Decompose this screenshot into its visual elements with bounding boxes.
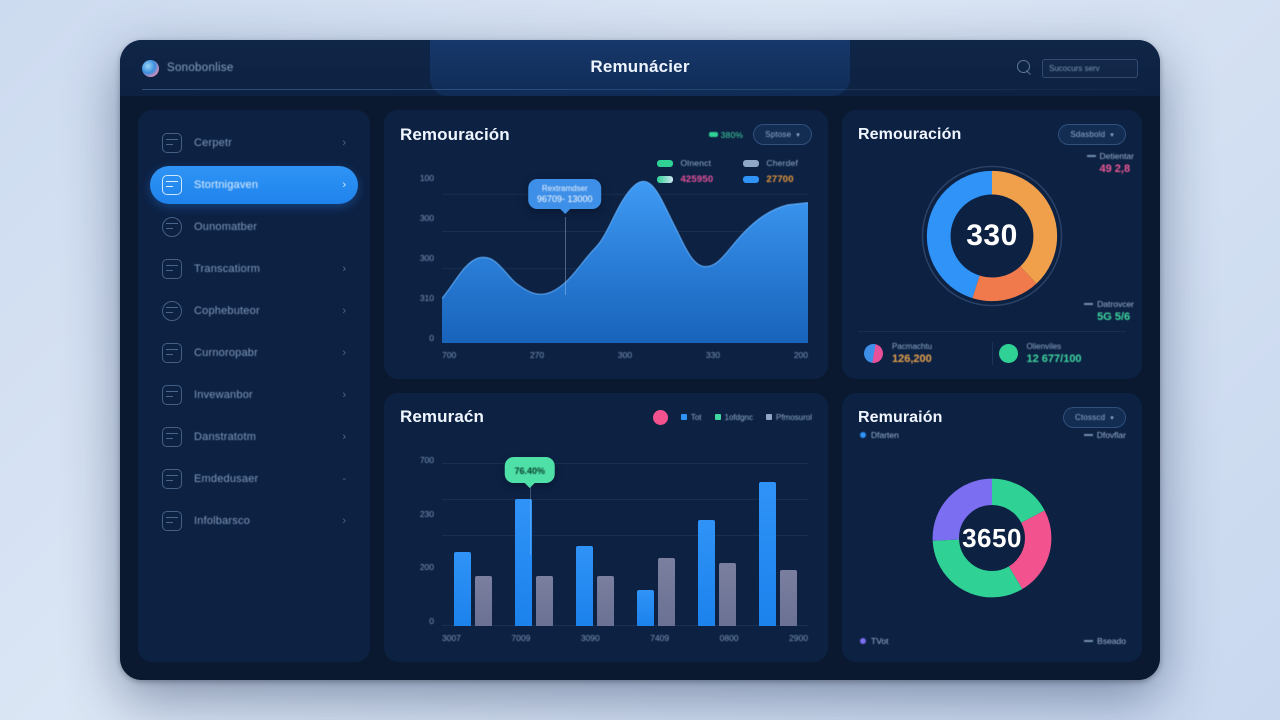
- legend-label: Olnenct: [680, 158, 711, 168]
- chevron-right-icon: ›: [342, 347, 346, 359]
- legend-label: Tot: [691, 413, 702, 422]
- x-tick: 3090: [581, 633, 600, 643]
- area-card-header: Remouración 380% Sptose ▾: [400, 124, 812, 145]
- bar-legend: Tot 1ofdgnc Pfmosurol: [653, 410, 812, 425]
- notes-icon: [162, 511, 182, 531]
- x-tick: 0800: [720, 633, 739, 643]
- bar-gray[interactable]: [719, 563, 736, 626]
- callout-label: Dfovflar: [1084, 430, 1126, 440]
- donut-top-actions: Sdasbold ▾: [1058, 124, 1126, 145]
- sidebar-item-3[interactable]: Transcatiorm ›: [150, 250, 358, 288]
- chart-icon: [162, 427, 182, 447]
- donut-bottom-center-value: 3650: [926, 472, 1058, 604]
- sidebar: Cerpetr › Stortnigaven › Ounomatber Tran…: [138, 110, 370, 662]
- sidebar-item-1[interactable]: Stortnigaven ›: [150, 166, 358, 204]
- sidebar-item-label: Transcatiorm: [194, 263, 330, 275]
- area-y-axis: 100 300 300 310 0: [400, 173, 434, 343]
- x-tick: 300: [618, 350, 632, 360]
- bar-card-title: Remuraćn: [400, 407, 484, 427]
- callout-label: Datrovcer: [1084, 299, 1134, 309]
- y-tick: 100: [420, 173, 434, 183]
- chevron-right-icon: ›: [342, 137, 346, 149]
- app-window: Sonobonlise Remunácier Sucocurs serv Cer…: [120, 40, 1160, 680]
- chevron-right-icon: ›: [342, 263, 346, 275]
- sidebar-item-2[interactable]: Ounomatber: [150, 208, 358, 246]
- dashboard-icon: [162, 133, 182, 153]
- area-chart-plot-area: 100 300 300 310 0: [400, 173, 812, 365]
- bar-gray[interactable]: [597, 576, 614, 626]
- x-tick: 270: [530, 350, 544, 360]
- blue-dot-icon: [860, 432, 866, 438]
- sidebar-item-4[interactable]: Cophebuteor ›: [150, 292, 358, 330]
- callout-label-wrap: Dfarten: [860, 430, 899, 440]
- status-badge: 380%: [709, 130, 744, 140]
- donut-bottom-callout-0: Dfarten: [860, 430, 899, 440]
- y-tick: 230: [420, 509, 434, 519]
- briefcase-icon: [162, 469, 182, 489]
- tooltip-text: 76.40%: [515, 466, 546, 476]
- chevron-right-icon: ›: [342, 179, 346, 191]
- bar-blue[interactable]: [637, 590, 654, 626]
- bar-legend-item-0: Tot: [681, 413, 702, 422]
- legend-swatch: [681, 414, 687, 420]
- tooltip-stem: [565, 217, 566, 295]
- x-tick: 3007: [442, 633, 461, 643]
- chevron-right-icon: ›: [342, 431, 346, 443]
- donut-top: 330: [918, 162, 1066, 310]
- stat-0: Pacmachtu 126,200: [858, 342, 992, 365]
- app-body: Cerpetr › Stortnigaven › Ounomatber Tran…: [120, 96, 1160, 680]
- sidebar-item-label: Infolbarsco: [194, 515, 330, 527]
- bar-series: [442, 455, 808, 626]
- legend-swatch: [657, 160, 673, 167]
- donut-bottom-card: Remuraión Ctosscd ▾: [842, 393, 1142, 662]
- x-tick: 700: [442, 350, 456, 360]
- bar-blue[interactable]: [759, 482, 776, 626]
- lock-icon: [162, 301, 182, 321]
- donut-top-callout-0: Detientar 49 2,8: [1087, 151, 1135, 175]
- green-dot-icon: [999, 344, 1018, 363]
- area-card-actions: 380% Sptose ▾: [709, 124, 812, 145]
- stat-label: Pacmachtu: [892, 342, 932, 351]
- donut-top-card: Remouración Sdasbold ▾: [842, 110, 1142, 379]
- y-tick: 0: [429, 616, 434, 626]
- bar-card-header: Remuraćn Tot 1ofdgnc Pfm: [400, 407, 812, 427]
- tooltip-line-1: Rextramdser: [537, 184, 593, 193]
- donut-bottom-chart: 3650 Dfarten Dfovflar: [858, 428, 1126, 648]
- donut-top-center-value: 330: [918, 162, 1066, 310]
- callout-value: 5G 5/6: [1084, 311, 1134, 323]
- bar-gray[interactable]: [475, 576, 492, 626]
- search-icon[interactable]: [1017, 60, 1033, 76]
- purple-dot-icon: [860, 638, 866, 644]
- donut-top-chart: 330 Detientar 49 2,8 Datrovcer 5G 5/6: [858, 145, 1126, 327]
- app-logo-icon: [142, 60, 159, 77]
- callout-label: Detientar: [1087, 151, 1135, 161]
- bar-gray[interactable]: [780, 570, 797, 626]
- donut-bottom-callout-1: Dfovflar: [1084, 430, 1126, 440]
- sidebar-item-5[interactable]: Curnoropabr ›: [150, 334, 358, 372]
- donut-top-dropdown[interactable]: Sdasbold ▾: [1058, 124, 1126, 145]
- chevron-right-icon: ›: [342, 389, 346, 401]
- sidebar-item-label: Stortnigaven: [194, 179, 330, 191]
- x-tick: 7009: [511, 633, 530, 643]
- legend-swatch: [766, 414, 772, 420]
- donut-top-stats: Pacmachtu 126,200 Olienviles 12 677/100: [858, 331, 1126, 365]
- bar-gray[interactable]: [536, 576, 553, 626]
- bar-group-3: [637, 455, 675, 626]
- area-tooltip: Rextramdser 96709- 13000: [528, 179, 602, 209]
- circle-icon: [162, 217, 182, 237]
- x-tick: 7409: [650, 633, 669, 643]
- callout-label: TVot: [871, 636, 888, 646]
- chevron-down-icon: ▾: [1110, 414, 1114, 422]
- legend-label: Pfmosurol: [776, 413, 812, 422]
- area-chart-card: Remouración 380% Sptose ▾ Olnenct: [384, 110, 828, 379]
- donut-bottom-actions: Ctosscd ▾: [1063, 407, 1126, 428]
- stat-label: Olienviles: [1027, 342, 1082, 351]
- y-tick: 300: [420, 213, 434, 223]
- legend-label: Cherdef: [766, 158, 798, 168]
- y-tick: 300: [420, 253, 434, 263]
- bar-blue[interactable]: [698, 520, 715, 626]
- stat-value: 12 677/100: [1027, 353, 1082, 365]
- home-icon: [162, 259, 182, 279]
- brand-name: Sonobonlise: [167, 62, 234, 74]
- callout-label-wrap: TVot: [860, 636, 888, 646]
- legend-label: 1ofdgnc: [725, 413, 753, 422]
- sidebar-item-label: Danstratotm: [194, 431, 330, 443]
- pink-dot-icon: [653, 410, 668, 425]
- chevron-right-icon: ›: [342, 515, 346, 527]
- donut-bottom-callout-3: Bseado: [1084, 636, 1126, 646]
- sidebar-item-label: Ounomatber: [194, 221, 334, 233]
- bar-legend-item-2: Pfmosurol: [766, 413, 812, 422]
- y-tick: 700: [420, 455, 434, 465]
- search-placeholder: Sucocurs serv: [1049, 64, 1100, 73]
- bar-chart-card: Remuraćn Tot 1ofdgnc Pfm: [384, 393, 828, 662]
- dropdown-label: Sptose: [765, 130, 791, 139]
- sidebar-item-label: Cerpetr: [194, 137, 330, 149]
- sidebar-item-6[interactable]: Invewanbor ›: [150, 376, 358, 414]
- x-tick: 330: [706, 350, 720, 360]
- x-tick: 200: [794, 350, 808, 360]
- area-range-dropdown[interactable]: Sptose ▾: [753, 124, 812, 145]
- bar-blue[interactable]: [454, 552, 471, 626]
- legend-swatch: [715, 414, 721, 420]
- y-tick: 200: [420, 562, 434, 572]
- bar-y-axis: 700 230 200 0: [400, 455, 434, 626]
- search-input[interactable]: Sucocurs serv: [1042, 59, 1138, 78]
- app-header: Sonobonlise Remunácier Sucocurs serv: [120, 40, 1160, 96]
- donut-bottom: 3650: [926, 472, 1058, 604]
- legend-item-1: Cherdef: [743, 158, 798, 168]
- bar-group-5: [759, 455, 797, 626]
- sidebar-item-0[interactable]: Cerpetr ›: [150, 124, 358, 162]
- donut-bottom-title: Remuraión: [858, 409, 942, 427]
- donut-top-callout-1: Datrovcer 5G 5/6: [1084, 299, 1134, 323]
- chevron-down-icon: ▾: [796, 131, 800, 139]
- sidebar-item-label: Emdedusaer: [194, 473, 330, 485]
- area-chart-svg: [442, 173, 808, 343]
- sidebar-item-label: Invewanbor: [194, 389, 330, 401]
- page-title: Remunácier: [590, 57, 689, 77]
- area-x-axis: 700 270 300 330 200: [442, 345, 808, 365]
- bar-tooltip-stem: [530, 483, 531, 555]
- y-tick: 310: [420, 293, 434, 303]
- donut-top-header: Remouración Sdasbold ▾: [858, 124, 1126, 145]
- badge-icon: [162, 343, 182, 363]
- callout-value: 49 2,8: [1087, 163, 1135, 175]
- bar-group-0: [454, 455, 492, 626]
- brand[interactable]: Sonobonlise: [142, 60, 234, 77]
- dropdown-label: Sdasbold: [1070, 130, 1105, 139]
- area-series: [442, 173, 808, 343]
- sidebar-item-8[interactable]: Emdedusaer -: [150, 460, 358, 498]
- bar-group-2: [576, 455, 614, 626]
- bar-legend-item-1: 1ofdgnc: [715, 413, 753, 422]
- bar-tooltip: 76.40%: [505, 457, 556, 483]
- legend-item-0: Olnenct: [657, 158, 713, 168]
- bar-gray[interactable]: [658, 558, 675, 626]
- sidebar-item-7[interactable]: Danstratotm ›: [150, 418, 358, 456]
- sidebar-item-9[interactable]: Infolbarsco ›: [150, 502, 358, 540]
- x-tick: 2900: [789, 633, 808, 643]
- sidebar-item-label: Curnoropabr: [194, 347, 330, 359]
- layout-icon: [162, 175, 182, 195]
- chevron-right-icon: ›: [342, 305, 346, 317]
- stat-1: Olienviles 12 677/100: [992, 342, 1127, 365]
- callout-label: Dfarten: [871, 430, 899, 440]
- tooltip-line-2: 96709- 13000: [537, 194, 593, 204]
- stat-value: 126,200: [892, 353, 932, 365]
- content-grid: Remouración 380% Sptose ▾ Olnenct: [384, 110, 1142, 662]
- dropdown-label: Ctosscd: [1075, 413, 1105, 422]
- chevron-right-icon: -: [342, 473, 346, 485]
- dual-color-dot-icon: [864, 344, 883, 363]
- legend-swatch: [743, 160, 759, 167]
- donut-bottom-dropdown[interactable]: Ctosscd ▾: [1063, 407, 1126, 428]
- header-actions: Sucocurs serv: [1017, 59, 1138, 78]
- sidebar-item-label: Cophebuteor: [194, 305, 330, 317]
- donut-top-title: Remouración: [858, 126, 961, 144]
- y-tick: 0: [429, 333, 434, 343]
- bar-blue[interactable]: [576, 546, 593, 626]
- bar-x-axis: 3007 7009 3090 7409 0800 2900: [442, 628, 808, 648]
- callout-label: Bseado: [1084, 636, 1126, 646]
- bar-chart-plot-area: 700 230 200 0: [400, 455, 812, 648]
- area-card-title: Remouración: [400, 125, 510, 145]
- donut-bottom-callout-2: TVot: [860, 636, 888, 646]
- chevron-down-icon: ▾: [1110, 131, 1114, 139]
- card-icon: [162, 385, 182, 405]
- bar-group-4: [698, 455, 736, 626]
- donut-bottom-header: Remuraión Ctosscd ▾: [858, 407, 1126, 428]
